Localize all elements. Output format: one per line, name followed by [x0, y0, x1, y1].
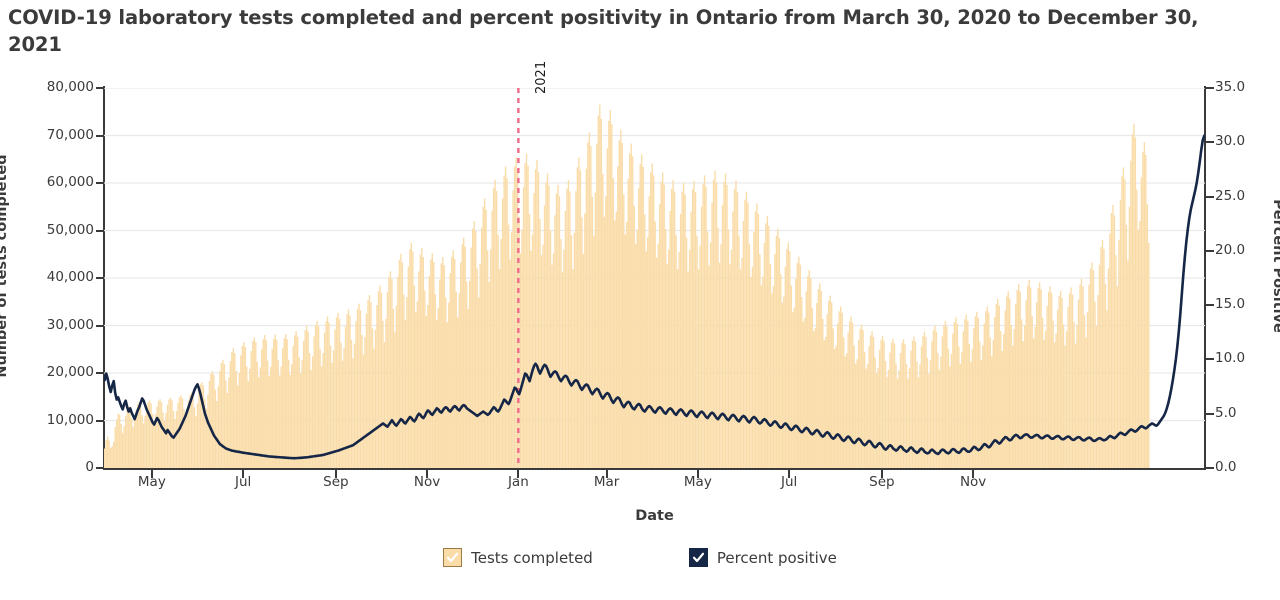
bar: [515, 157, 516, 468]
bar: [1070, 288, 1071, 469]
bar: [783, 297, 784, 468]
bar: [442, 257, 443, 468]
bar: [221, 363, 222, 468]
bar: [488, 282, 489, 468]
bar: [364, 337, 365, 468]
bar: [1148, 243, 1149, 468]
bar: [687, 271, 688, 468]
bar: [415, 312, 416, 468]
bar: [307, 332, 308, 468]
bar: [865, 369, 866, 468]
bar: [197, 403, 198, 468]
bar: [267, 361, 268, 468]
bar: [457, 317, 458, 468]
bar: [106, 440, 107, 468]
bar: [776, 236, 777, 468]
bar: [1015, 304, 1016, 468]
bar: [360, 310, 361, 468]
bar: [744, 200, 745, 468]
bar: [484, 199, 485, 468]
bar: [450, 273, 451, 468]
legend-item-percent-positive[interactable]: Percent positive: [689, 548, 837, 567]
bar: [1046, 306, 1047, 468]
bar: [1028, 280, 1029, 468]
bar: [328, 323, 329, 468]
legend-label-percent-positive: Percent positive: [717, 549, 837, 567]
bar: [131, 418, 132, 468]
bar: [629, 154, 630, 468]
bar: [134, 420, 135, 468]
bar: [506, 178, 507, 468]
bar: [117, 413, 118, 468]
bar: [702, 184, 703, 468]
bar: [469, 281, 470, 468]
bar: [867, 364, 868, 468]
bar: [981, 360, 982, 468]
bar: [1058, 296, 1059, 468]
y-tick-mark-right: [1206, 413, 1214, 415]
bar: [649, 196, 650, 468]
bar: [747, 202, 748, 468]
bar: [714, 171, 715, 468]
bar: [1009, 298, 1010, 468]
bar: [1014, 329, 1015, 468]
bar: [801, 297, 802, 468]
bar: [186, 409, 187, 468]
bar: [847, 333, 848, 468]
bar: [590, 146, 591, 468]
bar: [114, 427, 115, 468]
bar: [753, 232, 754, 468]
bar: [1060, 291, 1061, 468]
bar: [660, 182, 661, 468]
bar: [324, 333, 325, 468]
tests-completed-bars: [104, 105, 1150, 468]
bar: [180, 395, 181, 468]
bar: [696, 236, 697, 468]
bar: [475, 231, 476, 468]
bar: [1091, 262, 1092, 468]
bar: [750, 277, 751, 468]
bar: [1036, 302, 1037, 468]
bar: [593, 236, 594, 468]
bar: [436, 320, 437, 468]
bar: [815, 328, 816, 468]
bar: [243, 342, 244, 468]
bar: [494, 180, 495, 468]
bar: [310, 370, 311, 468]
bar: [158, 401, 159, 468]
bar: [827, 314, 828, 468]
bar: [402, 262, 403, 468]
bar: [399, 260, 400, 468]
bar: [327, 316, 328, 468]
bar: [463, 238, 464, 468]
bar: [900, 353, 901, 468]
bar: [1112, 205, 1113, 468]
y-tick-label-right: 5.0: [1215, 405, 1236, 421]
bar: [587, 143, 588, 468]
bar: [822, 319, 823, 468]
bar: [1085, 337, 1086, 468]
bar: [678, 252, 679, 468]
bar: [734, 189, 735, 468]
bar: [572, 269, 573, 468]
bar: [837, 324, 838, 468]
bar: [701, 207, 702, 468]
y-tick-label-left: 60,000: [47, 174, 94, 190]
bar: [1031, 316, 1032, 468]
bar: [608, 121, 609, 468]
bar: [138, 402, 139, 468]
bar: [909, 368, 910, 468]
bar: [533, 193, 534, 468]
bar: [1024, 326, 1025, 469]
bar: [915, 342, 916, 468]
bar: [665, 229, 666, 468]
bar: [870, 335, 871, 468]
bar: [333, 350, 334, 468]
bar: [535, 169, 536, 468]
bar: [708, 266, 709, 468]
bar: [1043, 340, 1044, 468]
bar: [553, 253, 554, 468]
bar: [818, 289, 819, 468]
bar: [337, 313, 338, 468]
bar: [924, 332, 925, 468]
bar: [1138, 230, 1139, 468]
bar: [294, 335, 295, 468]
bar: [717, 228, 718, 468]
bar: [316, 321, 317, 468]
bar: [1135, 137, 1136, 468]
bar: [426, 316, 427, 468]
bar: [1103, 249, 1104, 468]
bar: [435, 294, 436, 468]
bar: [257, 362, 258, 468]
bar: [1039, 282, 1040, 468]
bar: [583, 254, 584, 468]
bar: [969, 344, 970, 468]
bar: [777, 229, 778, 468]
bar: [460, 262, 461, 468]
bar: [605, 196, 606, 468]
bar: [617, 166, 618, 468]
bar: [237, 385, 238, 468]
bar: [936, 332, 937, 468]
bar: [357, 309, 358, 468]
bar: [545, 183, 546, 468]
bar: [722, 205, 723, 468]
bar: [251, 351, 252, 468]
bar: [1064, 345, 1065, 468]
bar: [159, 399, 160, 468]
bar: [907, 379, 908, 468]
bar: [619, 140, 620, 468]
bar: [403, 295, 404, 468]
bar: [269, 376, 270, 468]
bar: [408, 267, 409, 468]
bar: [726, 185, 727, 468]
bar: [203, 385, 204, 468]
bar: [1100, 247, 1101, 468]
bar: [565, 211, 566, 468]
bar: [379, 286, 380, 468]
bar: [946, 326, 947, 468]
bar: [143, 423, 144, 468]
bar: [839, 311, 840, 468]
bar: [532, 234, 533, 468]
plot-area: 2021: [104, 88, 1205, 468]
bar: [982, 345, 983, 468]
bar: [485, 210, 486, 468]
bar: [728, 230, 729, 468]
bar: [261, 349, 262, 468]
bar: [417, 301, 418, 468]
bar: [254, 337, 255, 468]
bar: [830, 296, 831, 468]
y-tick-label-right: 20.0: [1215, 242, 1245, 258]
bar: [806, 291, 807, 468]
bar: [396, 306, 397, 468]
bar: [877, 368, 878, 468]
bar: [825, 337, 826, 468]
bar: [111, 446, 112, 468]
bar: [228, 378, 229, 468]
bar: [1072, 295, 1073, 468]
bar: [530, 251, 531, 468]
bar: [113, 442, 114, 468]
bar: [704, 175, 705, 468]
bar: [334, 329, 335, 468]
bar: [1017, 290, 1018, 468]
bar: [481, 228, 482, 468]
bar: [879, 350, 880, 468]
bar: [150, 403, 151, 468]
bar: [581, 217, 582, 468]
bar: [692, 189, 693, 468]
bar: [990, 337, 991, 468]
bar: [1076, 325, 1077, 468]
bar: [409, 249, 410, 468]
bar: [287, 339, 288, 468]
bar: [129, 409, 130, 468]
bar: [853, 345, 854, 468]
y-tick-label-left: 40,000: [47, 269, 94, 285]
bar: [562, 272, 563, 468]
bar: [1093, 270, 1094, 468]
bar: [1084, 315, 1085, 468]
bar: [1075, 344, 1076, 468]
bar: [503, 175, 504, 468]
bar: [273, 339, 274, 468]
bar: [275, 335, 276, 468]
bar: [1002, 351, 1003, 468]
bar: [765, 223, 766, 468]
bar: [732, 212, 733, 469]
bar: [729, 264, 730, 468]
bar: [390, 271, 391, 468]
bar: [622, 143, 623, 468]
bar: [366, 314, 367, 468]
bar: [812, 308, 813, 468]
bar: [666, 264, 667, 468]
bar: [156, 406, 157, 468]
chart-container: COVID-19 laboratory tests completed and …: [0, 0, 1280, 600]
bar: [1144, 142, 1145, 468]
y-tick-label-left: 10,000: [47, 412, 94, 428]
bar: [632, 156, 633, 468]
bar: [644, 214, 645, 468]
bar: [975, 316, 976, 468]
bar: [1078, 299, 1079, 468]
bar: [749, 244, 750, 468]
bar: [655, 221, 656, 468]
bar: [451, 257, 452, 468]
bar: [282, 348, 283, 468]
bar: [174, 419, 175, 468]
bar: [411, 242, 412, 468]
bar: [378, 291, 379, 468]
bar: [542, 245, 543, 468]
bar: [994, 317, 995, 468]
bar: [252, 341, 253, 468]
bar: [698, 269, 699, 468]
bar: [898, 370, 899, 468]
bar: [723, 182, 724, 468]
bar: [719, 263, 720, 468]
bar: [568, 180, 569, 468]
bar: [306, 326, 307, 468]
bar: [1120, 200, 1121, 468]
bar: [309, 353, 310, 468]
bar: [1136, 190, 1137, 468]
bar: [895, 364, 896, 469]
bar: [487, 250, 488, 468]
bar: [677, 269, 678, 468]
bar: [182, 398, 183, 468]
bar: [1121, 176, 1122, 468]
bar: [523, 187, 524, 468]
bar: [683, 183, 684, 468]
bar: [897, 379, 898, 468]
bar: [279, 375, 280, 468]
bar: [560, 239, 561, 468]
bar: [473, 221, 474, 468]
bar: [693, 181, 694, 468]
bar: [162, 412, 163, 468]
y-axis-label-right: Percent Positive: [1270, 36, 1280, 496]
bar: [301, 360, 302, 468]
bar: [996, 304, 997, 468]
bar: [707, 231, 708, 468]
bar: [764, 243, 765, 468]
bar: [551, 265, 552, 468]
bar: [418, 271, 419, 468]
checkbox-icon-tests-completed[interactable]: [443, 548, 462, 567]
bar: [400, 254, 401, 468]
bar: [123, 426, 124, 468]
bar: [1057, 310, 1058, 468]
bar: [315, 325, 316, 468]
bar: [512, 191, 513, 468]
bar: [439, 279, 440, 468]
y-tick-mark-right: [1206, 250, 1214, 252]
bar: [382, 321, 383, 468]
bar: [1055, 334, 1056, 468]
bar: [376, 305, 377, 468]
bar: [358, 304, 359, 468]
bar: [662, 173, 663, 468]
bar: [641, 155, 642, 469]
bar: [430, 259, 431, 468]
bar: [711, 202, 712, 468]
bar: [774, 254, 775, 468]
bar: [761, 285, 762, 468]
bar: [125, 416, 126, 468]
bar: [465, 247, 466, 468]
bar: [596, 144, 597, 468]
bar: [284, 338, 285, 468]
bar: [421, 248, 422, 468]
bar: [1127, 260, 1128, 468]
bar: [346, 314, 347, 468]
bar: [391, 279, 392, 468]
bar: [880, 340, 881, 468]
bar: [828, 301, 829, 468]
bar: [804, 318, 805, 468]
bar: [285, 334, 286, 468]
bar: [1069, 293, 1070, 468]
bar: [788, 242, 789, 468]
checkbox-icon-percent-positive[interactable]: [689, 548, 708, 567]
bar: [1012, 346, 1013, 468]
bar: [550, 230, 551, 468]
bar: [852, 323, 853, 468]
bar: [628, 179, 629, 468]
bar: [657, 244, 658, 468]
bar: [393, 309, 394, 468]
bar: [538, 172, 539, 468]
bar: [554, 215, 555, 468]
bar: [945, 321, 946, 468]
bar: [859, 329, 860, 468]
bar: [767, 216, 768, 468]
bar: [406, 297, 407, 468]
bar: [578, 158, 579, 468]
bar: [954, 322, 955, 468]
bar: [432, 253, 433, 468]
bar: [304, 330, 305, 468]
bar: [454, 259, 455, 468]
bar: [611, 124, 612, 468]
legend-item-tests-completed[interactable]: Tests completed: [443, 548, 593, 567]
bar: [342, 361, 343, 468]
bar: [1067, 307, 1068, 468]
bar: [339, 319, 340, 468]
bar: [934, 326, 935, 468]
bar: [1045, 330, 1046, 468]
bar: [321, 366, 322, 468]
bar: [272, 349, 273, 468]
bar: [873, 337, 874, 468]
bar: [230, 361, 231, 468]
bar: [616, 212, 617, 469]
bar: [933, 330, 934, 468]
bar: [1042, 318, 1043, 468]
bar: [602, 174, 603, 468]
bar: [577, 167, 578, 468]
